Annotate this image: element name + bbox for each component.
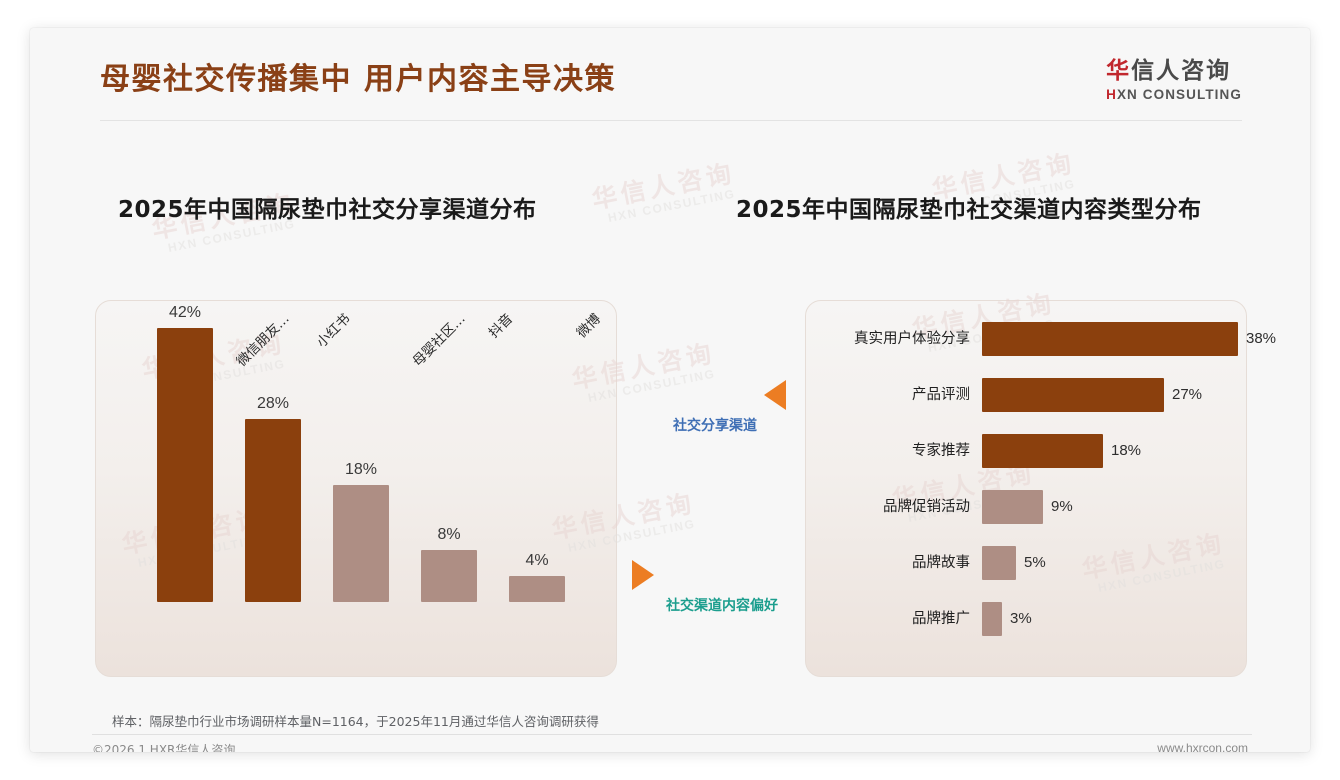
bar-row: 真实用户体验分享38% — [820, 322, 1290, 356]
bar-fill[interactable] — [982, 322, 1238, 356]
column-bar-group: 4%微博 — [509, 302, 565, 602]
social-content-types-chart: 真实用户体验分享38%产品评测27%专家推荐18%品牌促销活动9%品牌故事5%品… — [820, 316, 1290, 661]
bar-fill[interactable] — [982, 602, 1002, 636]
watermark: 华信人咨询 HXN CONSULTING — [590, 160, 740, 227]
source-footnote: 样本：隔尿垫巾行业市场调研样本量N=1164，于2025年11月通过华信人咨询调… — [112, 711, 599, 730]
bar-fill[interactable] — [982, 378, 1164, 412]
bar-row: 品牌故事5% — [820, 546, 1290, 580]
footer-website: www.hxrcon.com — [1157, 741, 1248, 752]
bar-value-label: 38% — [1246, 322, 1276, 356]
bar-fill[interactable] — [982, 490, 1043, 524]
bar-value-label: 27% — [1172, 378, 1202, 412]
watermark-cn: 华信人咨询 — [590, 160, 737, 213]
bar-row: 品牌推广3% — [820, 602, 1290, 636]
bar-fill[interactable] — [982, 546, 1016, 580]
triangle-right-icon — [632, 560, 654, 590]
triangle-left-icon — [764, 380, 786, 410]
slide-header: 母婴社交传播集中 用户内容主导决策 华信人咨询 HXN CONSULTING — [30, 28, 1310, 124]
bar-track: 38% — [982, 322, 1238, 356]
annotation-content-pref-label: 社交渠道内容偏好 — [612, 595, 832, 615]
brand-logo-en-highlight: H — [1106, 87, 1117, 102]
brand-logo-cn-rest: 信人咨询 — [1131, 58, 1231, 84]
column-bar-value: 8% — [403, 526, 495, 544]
bar-track: 5% — [982, 546, 1238, 580]
bar-value-label: 5% — [1024, 546, 1046, 580]
column-bar-group: 18%母婴社区… — [333, 302, 389, 602]
slide-footer: ©2026.1 HXR华信人咨询 www.hxrcon.com — [30, 741, 1310, 752]
bar-value-label: 3% — [1010, 602, 1032, 636]
brand-logo-cn: 华信人咨询 — [1106, 58, 1242, 84]
bar-category-label: 品牌促销活动 — [820, 490, 970, 524]
bar-category-label: 品牌故事 — [820, 546, 970, 580]
column-bar-value: 42% — [139, 304, 231, 322]
bar-category-label: 品牌推广 — [820, 602, 970, 636]
bar-category-label: 产品评测 — [820, 378, 970, 412]
bar-value-label: 18% — [1111, 434, 1141, 468]
column-bar-category-label: 微博 — [571, 308, 604, 341]
annotation-share-channel: 社交分享渠道 — [610, 380, 820, 435]
presentation-slide: 华信人咨询 HXN CONSULTING 华信人咨询 HXN CONSULTIN… — [30, 28, 1310, 752]
column-bar-group: 8%抖音 — [421, 302, 477, 602]
column-bar-group: 28%小红书 — [245, 302, 301, 602]
annotation-share-channel-label: 社交分享渠道 — [610, 415, 820, 435]
watermark-en: HXN CONSULTING — [607, 186, 740, 225]
brand-logo-en: HXN CONSULTING — [1106, 87, 1242, 102]
column-bar[interactable] — [333, 485, 389, 602]
bar-row: 产品评测27% — [820, 378, 1290, 412]
slide-canvas: 华信人咨询 HXN CONSULTING 华信人咨询 HXN CONSULTIN… — [0, 0, 1340, 780]
column-bar[interactable] — [245, 419, 301, 602]
footer-divider — [92, 734, 1252, 735]
footer-copyright: ©2026.1 HXR华信人咨询 — [92, 741, 235, 752]
column-bar[interactable] — [157, 328, 213, 602]
right-chart-title: 2025年中国隔尿垫巾社交渠道内容类型分布 — [736, 190, 1202, 224]
bar-track: 9% — [982, 490, 1238, 524]
column-bar-group: 42%微信朋友… — [157, 302, 213, 602]
brand-logo-cn-highlight: 华 — [1106, 58, 1131, 84]
column-plot-area: 42%微信朋友…28%小红书18%母婴社区…8%抖音4%微博 — [145, 302, 585, 602]
annotation-content-pref: 社交渠道内容偏好 — [612, 560, 832, 615]
column-bar-value: 28% — [227, 395, 319, 413]
bar-category-label: 真实用户体验分享 — [820, 322, 970, 356]
bar-value-label: 9% — [1051, 490, 1073, 524]
header-divider — [100, 120, 1242, 121]
bar-fill[interactable] — [982, 434, 1103, 468]
brand-logo-en-rest: XN CONSULTING — [1117, 87, 1242, 102]
bar-row: 专家推荐18% — [820, 434, 1290, 468]
column-bar-value: 18% — [315, 461, 407, 479]
column-bar[interactable] — [509, 576, 565, 602]
bar-track: 27% — [982, 378, 1238, 412]
column-bar-value: 4% — [491, 552, 583, 570]
bar-track: 3% — [982, 602, 1238, 636]
social-share-channels-chart: 42%微信朋友…28%小红书18%母婴社区…8%抖音4%微博 — [115, 290, 605, 680]
left-chart-title: 2025年中国隔尿垫巾社交分享渠道分布 — [118, 190, 537, 224]
bar-category-label: 专家推荐 — [820, 434, 970, 468]
bar-row: 品牌促销活动9% — [820, 490, 1290, 524]
bar-track: 18% — [982, 434, 1238, 468]
brand-logo: 华信人咨询 HXN CONSULTING — [1106, 58, 1242, 102]
column-bar[interactable] — [421, 550, 477, 602]
page-title: 母婴社交传播集中 用户内容主导决策 — [100, 54, 616, 98]
